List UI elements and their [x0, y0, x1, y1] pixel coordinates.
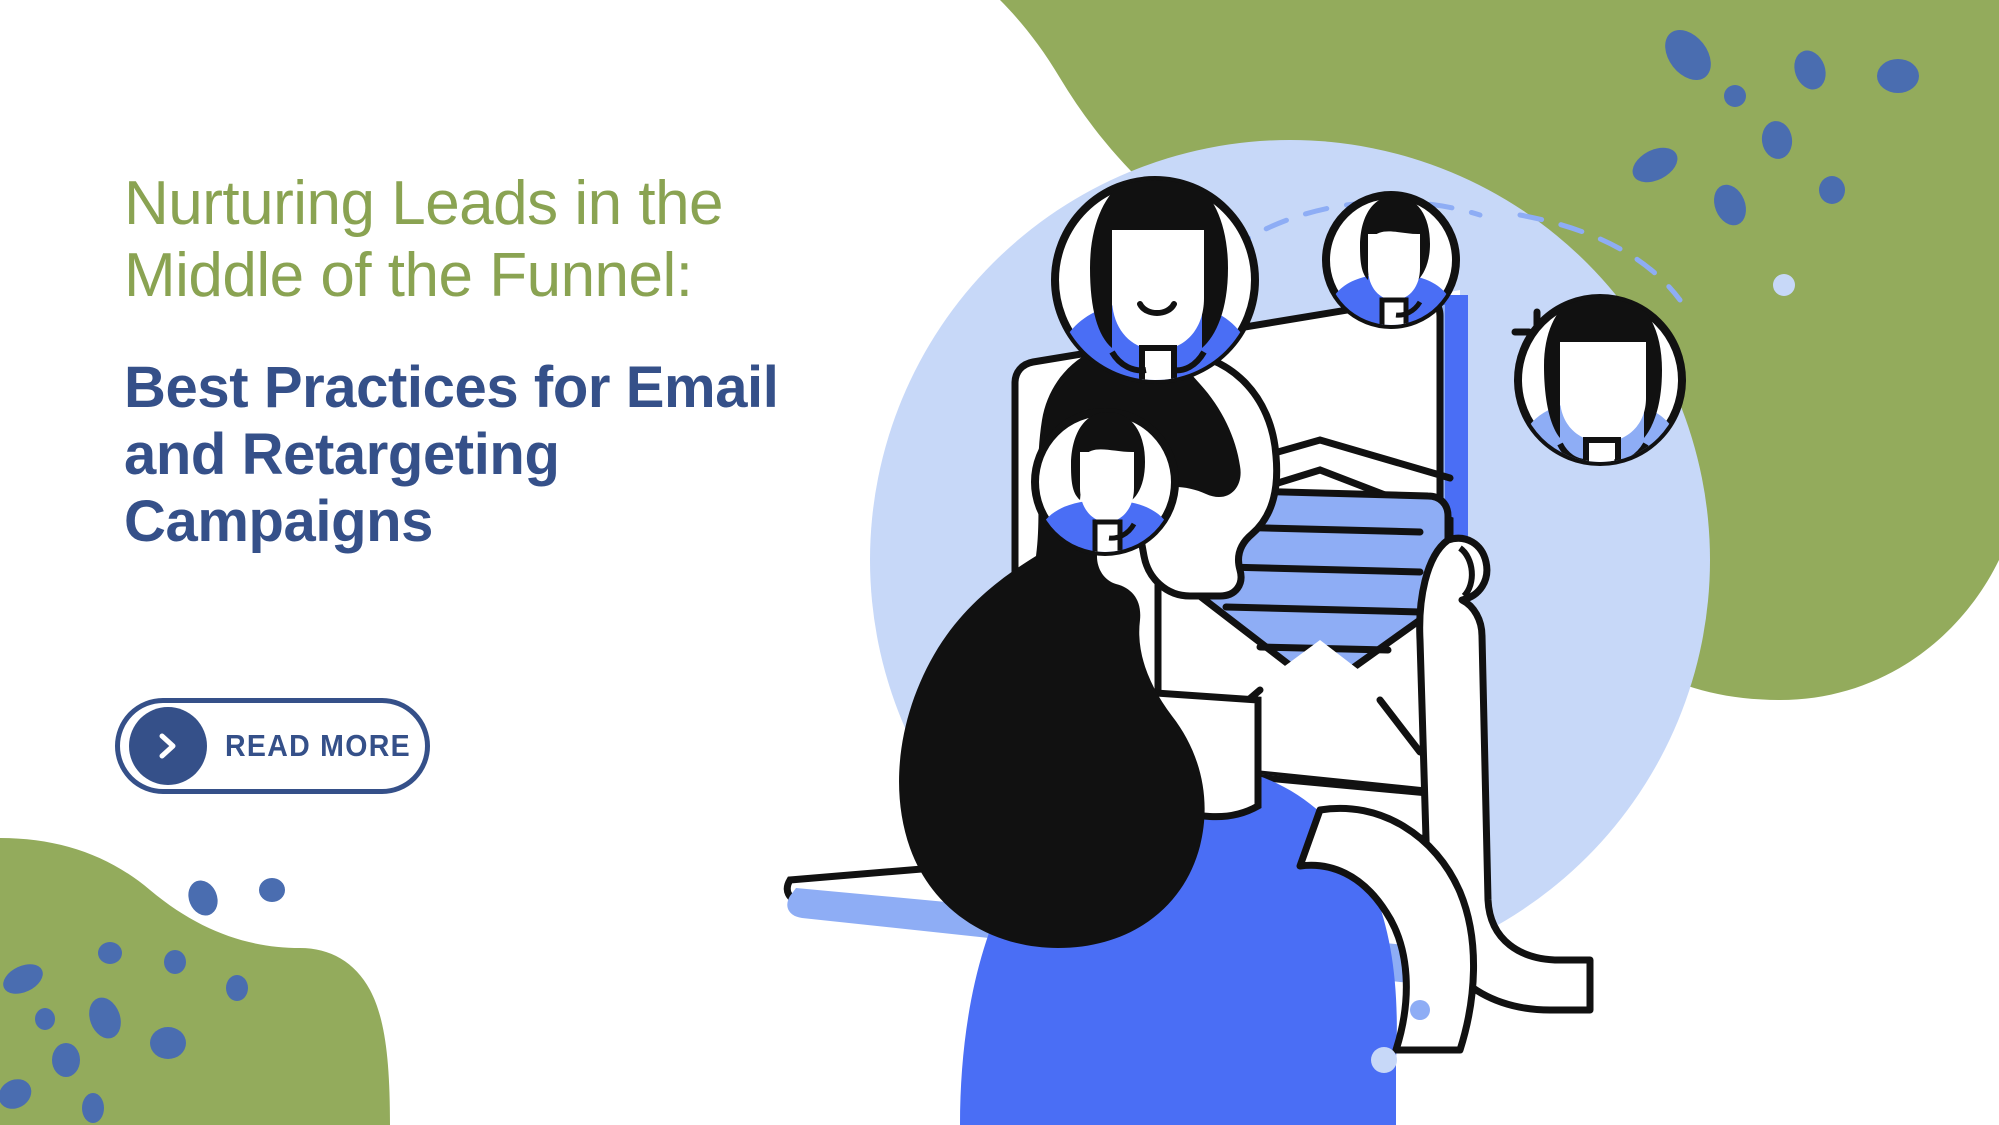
read-more-label: READ MORE	[225, 728, 411, 764]
olive-blob-bottom-left	[0, 838, 390, 1125]
read-more-button[interactable]: READ MORE	[115, 698, 430, 794]
blog-banner: Nurturing Leads in the Middle of the Fun…	[0, 0, 1999, 1125]
chevron-right-icon	[129, 707, 207, 785]
email-marketing-illustration	[760, 0, 1999, 1125]
